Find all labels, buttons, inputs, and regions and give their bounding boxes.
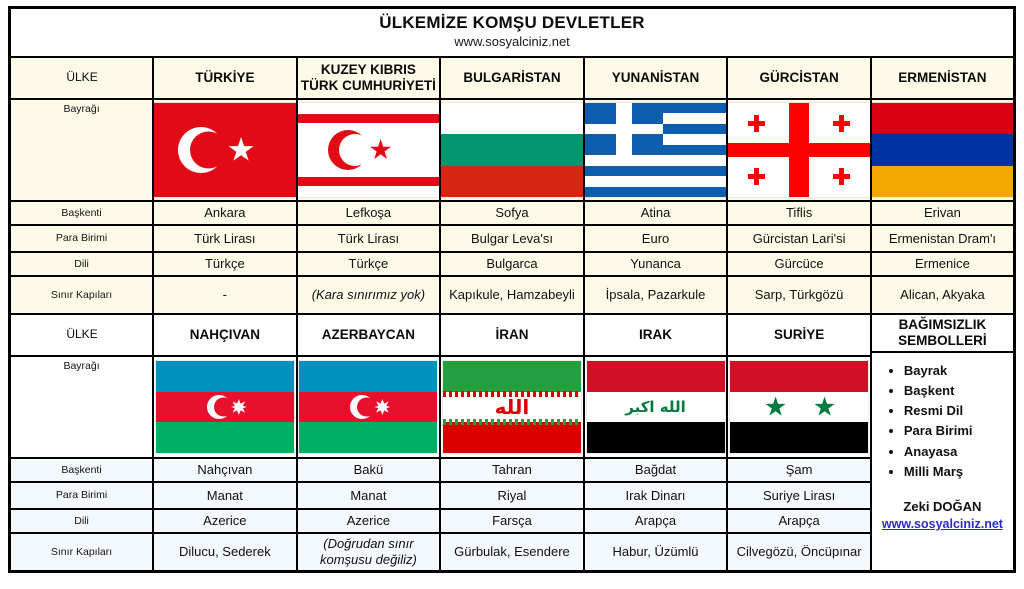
gates-kktc: (Kara sınırımız yok)	[297, 276, 441, 314]
northern-cyprus-flag-icon	[298, 103, 440, 197]
flag-cell-azerbaycan	[297, 356, 441, 458]
iran-flag-icon: الله	[443, 361, 581, 453]
capital-irak: Bağdat	[584, 458, 728, 482]
azerbaijan-flag-icon	[299, 361, 437, 453]
row-label-language-1: Dili	[10, 252, 154, 276]
page-title: ÜLKEMİZE KOMŞU DEVLETLER	[11, 13, 1013, 33]
flag-cell-yunanistan	[584, 99, 728, 201]
language-iran: Farsça	[440, 509, 584, 533]
symbols-column: BAĞIMSIZLIK SEMBOLLERİ Bayrak Başkent Re…	[871, 314, 1015, 572]
column-header-ermenistan: ERMENİSTAN	[871, 57, 1015, 99]
column-header-irak: IRAK	[584, 314, 728, 356]
language-suriye: Arapça	[727, 509, 871, 533]
credit-block: Zeki DOĞAN www.sosyalciniz.net	[878, 500, 1007, 531]
capital-yunanistan: Atina	[584, 201, 728, 225]
currency-gurcistan: Gürcistan Lari'si	[727, 225, 871, 252]
language-bulgaristan: Bulgarca	[440, 252, 584, 276]
currency-bulgaristan: Bulgar Leva'sı	[440, 225, 584, 252]
iran-emblem: الله	[495, 397, 530, 417]
currency-ermenistan: Ermenistan Dram'ı	[871, 225, 1015, 252]
row-label-capital-1: Başkenti	[10, 201, 154, 225]
currency-irak: Irak Dinarı	[584, 482, 728, 509]
site-subtitle: www.sosyalciniz.net	[11, 34, 1013, 50]
row-label-flag-2: Bayrağı	[10, 356, 154, 458]
currency-row-1: Para Birimi Türk Lirası Türk Lirası Bulg…	[10, 225, 1015, 252]
row-label-language-2: Dili	[10, 509, 154, 533]
currency-row-2: Para Birimi Manat Manat Riyal Irak Dinar…	[10, 482, 1015, 509]
language-nahcivan: Azerice	[153, 509, 297, 533]
gates-suriye: Cilvegözü, Öncüpınar	[727, 533, 871, 572]
gates-ermenistan: Alican, Akyaka	[871, 276, 1015, 314]
flag-cell-ermenistan	[871, 99, 1015, 201]
currency-suriye: Suriye Lirası	[727, 482, 871, 509]
row-label-currency-1: Para Birimi	[10, 225, 154, 252]
column-header-kktc: KUZEY KIBRIS TÜRK CUMHURİYETİ	[297, 57, 441, 99]
gates-azerbaycan: (Doğrudan sınır komşusu değiliz)	[297, 533, 441, 572]
language-azerbaycan: Azerice	[297, 509, 441, 533]
capital-gurcistan: Tiflis	[727, 201, 871, 225]
flag-cell-bulgaristan	[440, 99, 584, 201]
language-kktc: Türkçe	[297, 252, 441, 276]
row-label-gates-2: Sınır Kapıları	[10, 533, 154, 572]
flag-row-1: Bayrağı	[10, 99, 1015, 201]
row-label-gates-1: Sınır Kapıları	[10, 276, 154, 314]
currency-azerbaycan: Manat	[297, 482, 441, 509]
list-item: Milli Marş	[904, 462, 1007, 482]
header-row-2: ÜLKE NAHÇIVAN AZERBAYCAN İRAN IRAK SURİY…	[10, 314, 1015, 356]
currency-kktc: Türk Lirası	[297, 225, 441, 252]
gates-yunanistan: İpsala, Pazarkule	[584, 276, 728, 314]
title-cell: ÜLKEMİZE KOMŞU DEVLETLER www.sosyalciniz…	[10, 8, 1015, 58]
gates-irak: Habur, Üzümlü	[584, 533, 728, 572]
column-header-yunanistan: YUNANİSTAN	[584, 57, 728, 99]
capital-ermenistan: Erivan	[871, 201, 1015, 225]
capital-azerbaycan: Bakü	[297, 458, 441, 482]
border-gates-row-2: Sınır Kapıları Dilucu, Sederek (Doğrudan…	[10, 533, 1015, 572]
neighbor-countries-table: ÜLKEMİZE KOMŞU DEVLETLER www.sosyalciniz…	[8, 6, 1016, 573]
row-header-country-1: ÜLKE	[10, 57, 154, 99]
list-item: Para Birimi	[904, 421, 1007, 441]
capital-iran: Tahran	[440, 458, 584, 482]
row-label-currency-2: Para Birimi	[10, 482, 154, 509]
website-link[interactable]: www.sosyalciniz.net	[878, 517, 1007, 531]
symbols-header: BAĞIMSIZLIK SEMBOLLERİ	[872, 315, 1013, 351]
infographic-page: ÜLKEMİZE KOMŞU DEVLETLER www.sosyalciniz…	[0, 0, 1024, 589]
capital-nahcivan: Nahçıvan	[153, 458, 297, 482]
language-gurcistan: Gürcüce	[727, 252, 871, 276]
currency-iran: Riyal	[440, 482, 584, 509]
language-row-2: Dili Azerice Azerice Farsça Arapça Arapç…	[10, 509, 1015, 533]
flag-row-2: Bayrağı الله الله اكبر	[10, 356, 1015, 458]
language-irak: Arapça	[584, 509, 728, 533]
language-yunanistan: Yunanca	[584, 252, 728, 276]
gates-gurcistan: Sarp, Türkgözü	[727, 276, 871, 314]
row-label-flag-1: Bayrağı	[10, 99, 154, 201]
capital-row-2: Başkenti Nahçıvan Bakü Tahran Bağdat Şam	[10, 458, 1015, 482]
column-header-nahcivan: NAHÇIVAN	[153, 314, 297, 356]
language-turkiye: Türkçe	[153, 252, 297, 276]
armenia-flag-icon	[872, 103, 1013, 197]
capital-bulgaristan: Sofya	[440, 201, 584, 225]
column-header-turkiye: TÜRKİYE	[153, 57, 297, 99]
author-name: Zeki DOĞAN	[903, 499, 981, 514]
flag-cell-suriye	[727, 356, 871, 458]
currency-nahcivan: Manat	[153, 482, 297, 509]
iraq-flag-icon: الله اكبر	[587, 361, 725, 453]
flag-cell-nahcivan	[153, 356, 297, 458]
syria-flag-icon	[730, 361, 868, 453]
capital-turkiye: Ankara	[153, 201, 297, 225]
capital-row-1: Başkenti Ankara Lefkoşa Sofya Atina Tifl…	[10, 201, 1015, 225]
currency-yunanistan: Euro	[584, 225, 728, 252]
title-row: ÜLKEMİZE KOMŞU DEVLETLER www.sosyalciniz…	[10, 8, 1015, 58]
list-item: Bayrak	[904, 361, 1007, 381]
language-row-1: Dili Türkçe Türkçe Bulgarca Yunanca Gürc…	[10, 252, 1015, 276]
language-ermenistan: Ermenice	[871, 252, 1015, 276]
column-header-suriye: SURİYE	[727, 314, 871, 356]
list-item: Başkent	[904, 381, 1007, 401]
gates-iran: Gürbulak, Esendere	[440, 533, 584, 572]
turkey-flag-icon	[154, 103, 296, 197]
list-item: Anayasa	[904, 442, 1007, 462]
column-header-gurcistan: GÜRCİSTAN	[727, 57, 871, 99]
gates-turkiye: -	[153, 276, 297, 314]
flag-cell-irak: الله اكبر	[584, 356, 728, 458]
flag-cell-iran: الله	[440, 356, 584, 458]
currency-turkiye: Türk Lirası	[153, 225, 297, 252]
iraq-script: الله اكبر	[625, 398, 686, 416]
column-header-iran: İRAN	[440, 314, 584, 356]
header-row-1: ÜLKE TÜRKİYE KUZEY KIBRIS TÜRK CUMHURİYE…	[10, 57, 1015, 99]
greece-flag-icon	[585, 103, 727, 197]
row-label-capital-2: Başkenti	[10, 458, 154, 482]
gates-nahcivan: Dilucu, Sederek	[153, 533, 297, 572]
border-gates-row-1: Sınır Kapıları - (Kara sınırımız yok) Ka…	[10, 276, 1015, 314]
list-item: Resmi Dil	[904, 401, 1007, 421]
flag-cell-turkiye	[153, 99, 297, 201]
capital-kktc: Lefkoşa	[297, 201, 441, 225]
bulgaria-flag-icon	[441, 103, 583, 197]
column-header-bulgaristan: BULGARİSTAN	[440, 57, 584, 99]
row-header-country-2: ÜLKE	[10, 314, 154, 356]
flag-cell-gurcistan	[727, 99, 871, 201]
georgia-flag-icon	[728, 103, 870, 197]
azerbaijan-flag-icon	[156, 361, 294, 453]
gates-bulgaristan: Kapıkule, Hamzabeyli	[440, 276, 584, 314]
flag-cell-kktc	[297, 99, 441, 201]
capital-suriye: Şam	[727, 458, 871, 482]
independence-symbols-list: Bayrak Başkent Resmi Dil Para Birimi Ana…	[878, 361, 1007, 482]
column-header-azerbaycan: AZERBAYCAN	[297, 314, 441, 356]
